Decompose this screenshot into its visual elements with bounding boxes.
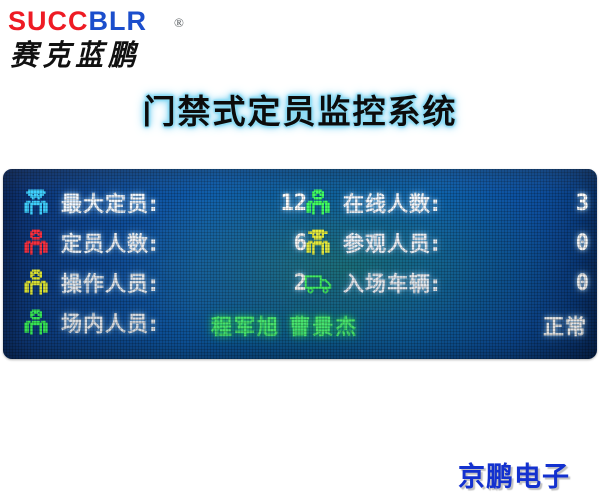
- logo-chinese-name: 赛克蓝鹏: [10, 39, 141, 72]
- registered-trademark-icon: ®: [174, 15, 184, 31]
- person-green-icon: [303, 188, 333, 218]
- person-hat-yellow-icon: [303, 228, 333, 258]
- led-display-board: 最大定员: 12 定员人数: 6: [3, 169, 597, 359]
- led-label-visitors: 参观人员:: [343, 228, 440, 258]
- led-row-registered-count: 定员人数: 6: [21, 223, 311, 263]
- logo-wordmark: SUCCBLR: [8, 6, 238, 36]
- led-label-operators: 操作人员:: [61, 268, 158, 298]
- brand-logo: SUCCBLR ® 赛克蓝鹏: [8, 6, 238, 76]
- led-value-visitors: 0: [576, 231, 589, 256]
- footer-company-name: 京鹏电子: [458, 455, 570, 494]
- led-row-max-capacity: 最大定员: 12: [21, 183, 311, 223]
- led-label-max-capacity: 最大定员:: [61, 188, 158, 218]
- led-row-visitors: 参观人员: 0: [303, 223, 593, 263]
- led-row-vehicles: 入场车辆: 0: [303, 263, 593, 303]
- led-row-online-count: 在线人数: 3: [303, 183, 593, 223]
- led-row-roster: 程军旭 曹景杰 正常: [21, 307, 591, 345]
- logo-wordmark-red: SUCC: [8, 6, 89, 36]
- person-yellow-icon: [21, 268, 51, 298]
- led-row-operators: 操作人员: 2: [21, 263, 311, 303]
- page-title: 门禁式定员监控系统: [0, 92, 600, 132]
- led-value-online-count: 3: [576, 191, 589, 216]
- person-cyan-icon: [21, 188, 51, 218]
- roster-names: 程军旭 曹景杰: [211, 311, 358, 341]
- status-badge: 正常: [543, 311, 587, 341]
- led-label-vehicles: 入场车辆:: [343, 268, 440, 298]
- person-red-icon: [21, 228, 51, 258]
- led-label-online-count: 在线人数:: [343, 188, 440, 218]
- truck-green-icon: [303, 268, 333, 298]
- led-value-vehicles: 0: [576, 271, 589, 296]
- led-label-registered-count: 定员人数:: [61, 228, 158, 258]
- logo-wordmark-blue: BLR: [89, 6, 148, 36]
